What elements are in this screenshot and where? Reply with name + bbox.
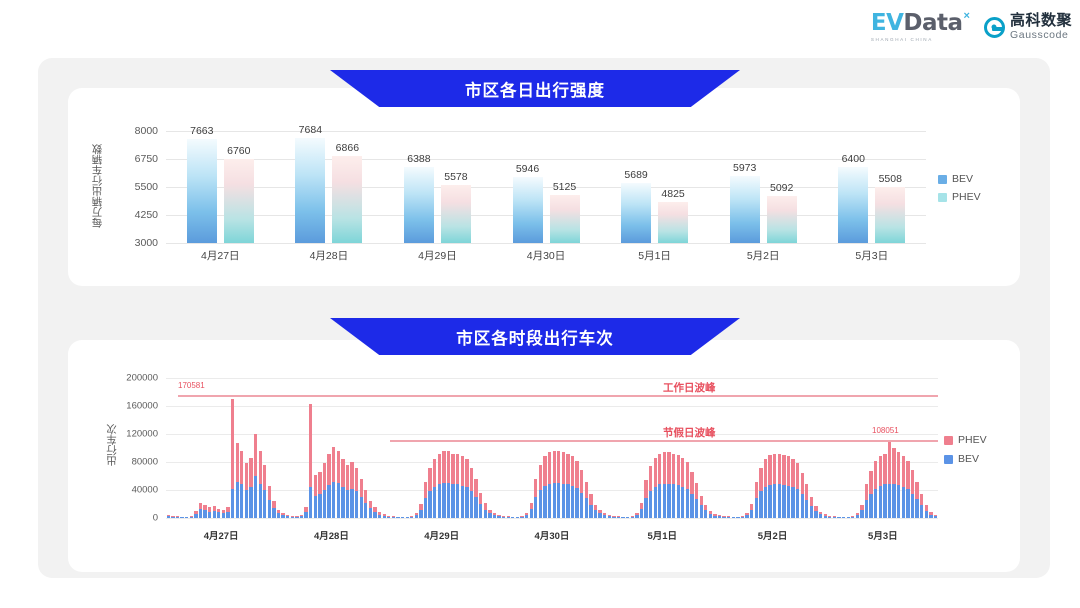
- chart2-bar-bev: [686, 489, 689, 518]
- chart2-stacked-bar[interactable]: [571, 378, 574, 518]
- chart2-bar-phev: [254, 434, 257, 476]
- chart2-stacked-bar[interactable]: [171, 378, 174, 518]
- chart2-x-label: 5月1日: [607, 528, 717, 542]
- chart2-stacked-bar[interactable]: [268, 378, 271, 518]
- chart2-stacked-bar[interactable]: [383, 378, 386, 518]
- chart2-stacked-bar[interactable]: [700, 378, 703, 518]
- chart2-stacked-bar[interactable]: [488, 378, 491, 518]
- chart2-stacked-bar[interactable]: [856, 378, 859, 518]
- legend-item-phev[interactable]: PHEV: [938, 191, 981, 203]
- chart2-stacked-bar[interactable]: [424, 378, 427, 518]
- chart2-stacked-bar[interactable]: [566, 378, 569, 518]
- chart1-bar-phev[interactable]: 5578: [441, 185, 471, 243]
- chart2-stacked-bar[interactable]: [461, 378, 464, 518]
- chart2-stacked-bar[interactable]: [355, 378, 358, 518]
- chart2-bar-bev: [906, 489, 909, 518]
- chart2-stacked-bar[interactable]: [167, 378, 170, 518]
- chart1-bar-group: 59735092: [709, 131, 818, 243]
- chart2-stacked-bar[interactable]: [318, 378, 321, 518]
- chart2-stacked-bar[interactable]: [654, 378, 657, 518]
- chart2-stacked-bar[interactable]: [401, 378, 404, 518]
- chart1-bar-phev[interactable]: 5092: [767, 196, 797, 243]
- chart1-bar-bev[interactable]: 5973: [730, 176, 760, 243]
- chart2-stacked-bar[interactable]: [534, 378, 537, 518]
- chart2-stacked-bar[interactable]: [176, 378, 179, 518]
- chart2-stacked-bar[interactable]: [410, 378, 413, 518]
- chart2-stacked-bar[interactable]: [199, 378, 202, 518]
- chart2-stacked-bar[interactable]: [608, 378, 611, 518]
- chart1-x-label: 4月28日: [275, 248, 384, 263]
- chart2-stacked-bar[interactable]: [824, 378, 827, 518]
- chart2-stacked-bar[interactable]: [874, 378, 877, 518]
- chart2-bar-bev: [727, 517, 730, 518]
- chart2-stacked-bar[interactable]: [497, 378, 500, 518]
- chart1-bar-bev[interactable]: 5689: [621, 183, 651, 243]
- chart2-stacked-bar[interactable]: [764, 378, 767, 518]
- chart2-bar-phev: [654, 458, 657, 487]
- chart2-stacked-bar[interactable]: [897, 378, 900, 518]
- chart2-stacked-bar[interactable]: [562, 378, 565, 518]
- chart1-bar-bev[interactable]: 7663: [187, 139, 217, 243]
- chart2-bar-phev: [805, 484, 808, 499]
- chart1-bar-bev[interactable]: 6400: [838, 167, 868, 243]
- chart2-bar-bev: [865, 500, 868, 518]
- chart2-stacked-bar[interactable]: [892, 378, 895, 518]
- chart2-bar-bev: [286, 516, 289, 518]
- chart2-x-label: 4月27日: [166, 528, 276, 542]
- chart2-stacked-bar[interactable]: [213, 378, 216, 518]
- chart2-stacked-bar[interactable]: [180, 378, 183, 518]
- chart2-stacked-bar[interactable]: [718, 378, 721, 518]
- chart2-bar-bev: [433, 487, 436, 518]
- chart2-bar-bev: [300, 516, 303, 518]
- chart2-bar-bev: [295, 517, 298, 518]
- chart2-stacked-bar[interactable]: [249, 378, 252, 518]
- chart2-stacked-bar[interactable]: [741, 378, 744, 518]
- legend-item-bev-2[interactable]: BEV: [944, 453, 987, 465]
- chart2-stacked-bar[interactable]: [493, 378, 496, 518]
- chart2-stacked-bar[interactable]: [350, 378, 353, 518]
- chart2-bar-bev: [447, 483, 450, 518]
- chart2-stacked-bar[interactable]: [709, 378, 712, 518]
- chart2-stacked-bar[interactable]: [722, 378, 725, 518]
- peak-value-left: 170581: [178, 381, 205, 390]
- chart2-stacked-bar[interactable]: [286, 378, 289, 518]
- chart2-stacked-bar[interactable]: [277, 378, 280, 518]
- chart2-stacked-bar[interactable]: [902, 378, 905, 518]
- chart2-stacked-bar[interactable]: [557, 378, 560, 518]
- chart2-stacked-bar[interactable]: [695, 378, 698, 518]
- chart2-stacked-bar[interactable]: [263, 378, 266, 518]
- chart2-bar-phev: [548, 452, 551, 484]
- chart2-stacked-bar[interactable]: [883, 378, 886, 518]
- chart2-stacked-bar[interactable]: [759, 378, 762, 518]
- evdata-tagline: SHANGHAI CHINA: [871, 37, 933, 42]
- chart2-bar-bev: [493, 515, 496, 518]
- chart2-stacked-bar[interactable]: [814, 378, 817, 518]
- chart2-bar-bev: [654, 487, 657, 519]
- chart2-stacked-bar[interactable]: [341, 378, 344, 518]
- chart2-stacked-bar[interactable]: [194, 378, 197, 518]
- chart2-bar-bev: [507, 517, 510, 518]
- chart2-bar-bev: [304, 512, 307, 518]
- chart2-bar-bev: [442, 483, 445, 518]
- chart2-stacked-bar[interactable]: [507, 378, 510, 518]
- chart2-bar-phev: [571, 456, 574, 485]
- chart2-bar-phev: [778, 454, 781, 485]
- chart2-stacked-bar[interactable]: [833, 378, 836, 518]
- chart2-bar-phev: [323, 463, 326, 490]
- chart2-stacked-bar[interactable]: [300, 378, 303, 518]
- chart2-stacked-bar[interactable]: [442, 378, 445, 518]
- chart2-stacked-bar[interactable]: [465, 378, 468, 518]
- chart2-bar-phev: [658, 454, 661, 485]
- chart2-bar-phev: [865, 484, 868, 500]
- chart2-stacked-bar[interactable]: [530, 378, 533, 518]
- chart2-bar-phev: [759, 468, 762, 492]
- chart2-stacked-bar[interactable]: [732, 378, 735, 518]
- chart2-stacked-bar[interactable]: [543, 378, 546, 518]
- chart2-stacked-bar[interactable]: [295, 378, 298, 518]
- chart2-stacked-bar[interactable]: [603, 378, 606, 518]
- chart2-stacked-bar[interactable]: [575, 378, 578, 518]
- chart2-legend: PHEV BEV: [944, 434, 987, 465]
- chart1-bar-value: 6760: [227, 145, 250, 157]
- chart2-stacked-bar[interactable]: [245, 378, 248, 518]
- chart2-stacked-bar[interactable]: [231, 378, 234, 518]
- chart2-bar-phev: [700, 496, 703, 506]
- chart1-x-axis-labels: 4月27日4月28日4月29日4月30日5月1日5月2日5月3日: [166, 248, 926, 263]
- chart2-bar-bev: [745, 515, 748, 518]
- chart2-stacked-bar[interactable]: [750, 378, 753, 518]
- chart2-stacked-bar[interactable]: [548, 378, 551, 518]
- chart2-bar-bev: [392, 517, 395, 518]
- chart2-stacked-bar[interactable]: [745, 378, 748, 518]
- chart2-stacked-bar[interactable]: [801, 378, 804, 518]
- chart2-bar-phev: [677, 455, 680, 485]
- chart2-stacked-bar[interactable]: [323, 378, 326, 518]
- chart2-y-tick: 200000: [126, 373, 158, 384]
- chart2-stacked-bar[interactable]: [208, 378, 211, 518]
- chart2-bar-phev: [355, 468, 358, 492]
- chart2-stacked-bar[interactable]: [259, 378, 262, 518]
- chart2-stacked-bar[interactable]: [934, 378, 937, 518]
- chart2-bar-bev: [575, 488, 578, 518]
- chart2-bar-phev: [318, 472, 321, 494]
- chart2-bar-bev: [709, 514, 712, 518]
- chart2-bar-bev: [406, 517, 409, 518]
- chart1-x-label: 4月30日: [492, 248, 601, 263]
- chart2-bar-phev: [364, 490, 367, 503]
- chart2-bar-phev: [268, 486, 271, 500]
- chart2-bar-bev: [488, 513, 491, 518]
- chart2-stacked-bar[interactable]: [580, 378, 583, 518]
- chart2-bar-bev: [902, 487, 905, 519]
- chart2-stacked-bar[interactable]: [791, 378, 794, 518]
- chart2-bar-bev: [451, 484, 454, 518]
- chart2-bar-bev: [929, 515, 932, 519]
- chart2-stacked-bar[interactable]: [511, 378, 514, 518]
- chart2-stacked-bar[interactable]: [484, 378, 487, 518]
- chart1-bar-phev[interactable]: 6866: [332, 156, 362, 243]
- chart2-bar-phev: [259, 451, 262, 485]
- chart2-stacked-bar[interactable]: [925, 378, 928, 518]
- chart2-stacked-bar[interactable]: [713, 378, 716, 518]
- chart2-stacked-bar[interactable]: [828, 378, 831, 518]
- chart1-bar-value: 5092: [770, 182, 793, 194]
- chart2-stacked-bar[interactable]: [879, 378, 882, 518]
- chart2-bar-bev: [805, 500, 808, 518]
- chart2-stacked-bar[interactable]: [387, 378, 390, 518]
- chart2-stacked-bar[interactable]: [649, 378, 652, 518]
- chart2-stacked-bar[interactable]: [626, 378, 629, 518]
- chart2-stacked-bar[interactable]: [332, 378, 335, 518]
- chart2-stacked-bar[interactable]: [520, 378, 523, 518]
- chart2-stacked-bar[interactable]: [309, 378, 312, 518]
- chart2-bar-phev: [773, 454, 776, 485]
- chart2-bar-bev: [810, 506, 813, 518]
- chart2-stacked-bar[interactable]: [778, 378, 781, 518]
- chart2-bar-bev: [759, 491, 762, 518]
- chart2-stacked-bar[interactable]: [681, 378, 684, 518]
- chart2-x-label: 5月3日: [828, 528, 938, 542]
- chart2-stacked-bar[interactable]: [360, 378, 363, 518]
- chart2-bar-phev: [433, 459, 436, 487]
- chart2-bar-bev: [631, 517, 634, 518]
- chart2-stacked-bar[interactable]: [392, 378, 395, 518]
- chart2-stacked-bar[interactable]: [553, 378, 556, 518]
- chart2-stacked-bar[interactable]: [185, 378, 188, 518]
- chart2-bar-bev: [594, 510, 597, 518]
- chart2-stacked-bar[interactable]: [805, 378, 808, 518]
- chart2-stacked-bar[interactable]: [635, 378, 638, 518]
- chart2-bar-bev: [828, 517, 831, 518]
- chart2-bar-phev: [424, 482, 427, 499]
- chart1-bar-value: 7684: [299, 124, 322, 136]
- chart1-bar-value: 7663: [190, 125, 213, 137]
- chart2-bar-bev: [644, 498, 647, 518]
- chart2-stacked-bar[interactable]: [369, 378, 372, 518]
- chart2-stacked-bar[interactable]: [782, 378, 785, 518]
- chart2-stacked-bar[interactable]: [851, 378, 854, 518]
- chart2-bar-bev: [791, 487, 794, 518]
- chart2-bar-bev: [217, 512, 220, 518]
- chart2-bar-bev: [837, 517, 840, 518]
- chart2-y-tick: 40000: [132, 485, 158, 496]
- chart2-bar-phev: [240, 451, 243, 485]
- chart2-stacked-bar[interactable]: [217, 378, 220, 518]
- chart1-bar-phev[interactable]: 5508: [875, 187, 905, 243]
- chart2-bar-phev: [428, 468, 431, 492]
- banner-daily-intensity: 市区各日出行强度: [330, 70, 740, 107]
- chart2-x-label: 4月29日: [387, 528, 497, 542]
- chart2-bar-phev: [332, 447, 335, 482]
- chart2-stacked-bar[interactable]: [690, 378, 693, 518]
- chart2-stacked-bar[interactable]: [516, 378, 519, 518]
- chart2-stacked-bar[interactable]: [240, 378, 243, 518]
- chart2-stacked-bar[interactable]: [888, 378, 891, 518]
- chart2-plot-area: 20000016000012000080000400000: [166, 378, 938, 518]
- chart2-stacked-bar[interactable]: [415, 378, 418, 518]
- chart2-stacked-bar[interactable]: [525, 378, 528, 518]
- chart1-bar-bev[interactable]: 5946: [513, 177, 543, 243]
- chart2-bar-bev: [249, 487, 252, 518]
- chart2-stacked-bar[interactable]: [906, 378, 909, 518]
- legend-swatch-bev: [938, 175, 947, 184]
- chart1-bar-value: 5689: [624, 169, 647, 181]
- chart2-stacked-bar[interactable]: [631, 378, 634, 518]
- chart2-stacked-bar[interactable]: [644, 378, 647, 518]
- chart2-stacked-bar[interactable]: [667, 378, 670, 518]
- chart1-bar-phev[interactable]: 4825: [658, 202, 688, 243]
- chart2-stacked-bar[interactable]: [640, 378, 643, 518]
- chart2-stacked-bar[interactable]: [254, 378, 257, 518]
- chart2-bar-phev: [557, 451, 560, 483]
- chart2-bar-bev: [585, 498, 588, 518]
- chart2-stacked-bar[interactable]: [272, 378, 275, 518]
- chart2-stacked-bar[interactable]: [539, 378, 542, 518]
- chart2-stacked-bar[interactable]: [773, 378, 776, 518]
- chart2-stacked-bar[interactable]: [704, 378, 707, 518]
- chart2-stacked-bar[interactable]: [203, 378, 206, 518]
- chart2-stacked-bar[interactable]: [419, 378, 422, 518]
- chart2-stacked-bar[interactable]: [373, 378, 376, 518]
- chart1-bar-phev[interactable]: 6760: [224, 159, 254, 243]
- chart2-bar-bev: [915, 499, 918, 518]
- chart2-stacked-bar[interactable]: [314, 378, 317, 518]
- chart2-stacked-bar[interactable]: [327, 378, 330, 518]
- annotation-holiday-peak: 节假日波峰: [663, 425, 716, 440]
- chart2-stacked-bar[interactable]: [190, 378, 193, 518]
- chart2-bar-bev: [530, 509, 533, 518]
- chart1-x-label: 4月27日: [166, 248, 275, 263]
- chart2-stacked-bar[interactable]: [470, 378, 473, 518]
- chart2-stacked-bar[interactable]: [617, 378, 620, 518]
- chart2-stacked-bar[interactable]: [222, 378, 225, 518]
- chart2-stacked-bar[interactable]: [612, 378, 615, 518]
- chart1-bar-bev[interactable]: 6388: [404, 167, 434, 243]
- chart2-bar-bev: [732, 517, 735, 518]
- chart2-stacked-bar[interactable]: [438, 378, 441, 518]
- chart2-stacked-bar[interactable]: [686, 378, 689, 518]
- chart2-bar-bev: [185, 517, 188, 518]
- chart2-stacked-bar[interactable]: [736, 378, 739, 518]
- chart2-bar-phev: [796, 463, 799, 489]
- chart2-bar-bev: [883, 484, 886, 518]
- chart2-stacked-bar[interactable]: [672, 378, 675, 518]
- chart2-stacked-bar[interactable]: [847, 378, 850, 518]
- chart2-stacked-bar[interactable]: [406, 378, 409, 518]
- chart2-bar-phev: [451, 454, 454, 485]
- chart2-stacked-bar[interactable]: [479, 378, 482, 518]
- chart2-stacked-bar[interactable]: [456, 378, 459, 518]
- chart2-bar-bev: [897, 485, 900, 518]
- chart2-stacked-bar[interactable]: [598, 378, 601, 518]
- chart2-stacked-bar[interactable]: [474, 378, 477, 518]
- chart2-stacked-bar[interactable]: [842, 378, 845, 518]
- chart2-stacked-bar[interactable]: [291, 378, 294, 518]
- chart2-stacked-bar[interactable]: [787, 378, 790, 518]
- chart2-stacked-bar[interactable]: [755, 378, 758, 518]
- gausscode-mark-icon: [984, 17, 1005, 38]
- chart2-stacked-bar[interactable]: [727, 378, 730, 518]
- chart2-stacked-bar[interactable]: [451, 378, 454, 518]
- chart2-bar-phev: [791, 459, 794, 487]
- chart2-stacked-bar[interactable]: [337, 378, 340, 518]
- chart2-stacked-bar[interactable]: [589, 378, 592, 518]
- chart2-stacked-bar[interactable]: [364, 378, 367, 518]
- chart2-y-tick: 120000: [126, 429, 158, 440]
- chart2-stacked-bar[interactable]: [663, 378, 666, 518]
- chart1-bar-value: 5973: [733, 162, 756, 174]
- chart2-bar-bev: [580, 493, 583, 518]
- chart2-bar-bev: [782, 485, 785, 518]
- chart2-stacked-bar[interactable]: [810, 378, 813, 518]
- chart2-bar-bev: [355, 491, 358, 518]
- chart2-stacked-bar[interactable]: [860, 378, 863, 518]
- chart2-bar-phev: [369, 501, 372, 509]
- chart2-stacked-bar[interactable]: [869, 378, 872, 518]
- chart2-stacked-bar[interactable]: [768, 378, 771, 518]
- chart2-bar-bev: [520, 517, 523, 518]
- chart2-bar-phev: [869, 471, 872, 493]
- evdata-logo: EV Data × SHANGHAI CHINA: [871, 12, 970, 42]
- chart2-stacked-bar[interactable]: [677, 378, 680, 518]
- chart1-bar-phev[interactable]: 5125: [550, 195, 580, 243]
- legend-item-bev[interactable]: BEV: [938, 173, 981, 185]
- chart2-stacked-bar[interactable]: [837, 378, 840, 518]
- chart2-bar-bev: [750, 510, 753, 518]
- chart2-stacked-bar[interactable]: [865, 378, 868, 518]
- chart2-stacked-bar[interactable]: [281, 378, 284, 518]
- chart2-bar-bev: [672, 484, 675, 518]
- chart2-stacked-bar[interactable]: [433, 378, 436, 518]
- chart2-bar-bev: [713, 516, 716, 518]
- chart2-stacked-bar[interactable]: [346, 378, 349, 518]
- chart2-bar-bev: [332, 482, 335, 518]
- chart2-bar-phev: [539, 465, 542, 490]
- chart2-stacked-bar[interactable]: [304, 378, 307, 518]
- chart2-stacked-bar[interactable]: [428, 378, 431, 518]
- chart2-stacked-bar[interactable]: [396, 378, 399, 518]
- chart2-stacked-bar[interactable]: [585, 378, 588, 518]
- chart2-stacked-bar[interactable]: [226, 378, 229, 518]
- chart2-stacked-bar[interactable]: [658, 378, 661, 518]
- chart2-stacked-bar[interactable]: [915, 378, 918, 518]
- chart2-stacked-bar[interactable]: [502, 378, 505, 518]
- chart2-stacked-bar[interactable]: [621, 378, 624, 518]
- chart2-y-axis-label: 出行车次: [104, 424, 119, 466]
- chart1-bar-bev[interactable]: 7684: [295, 138, 325, 243]
- evdata-word-ev: EV: [871, 12, 904, 35]
- chart2-stacked-bar[interactable]: [796, 378, 799, 518]
- chart2-stacked-bar[interactable]: [236, 378, 239, 518]
- chart1-y-tick: 5500: [135, 181, 158, 193]
- chart2-y-tick: 80000: [132, 457, 158, 468]
- chart2-stacked-bar[interactable]: [594, 378, 597, 518]
- chart2-stacked-bar[interactable]: [929, 378, 932, 518]
- chart2-stacked-bar[interactable]: [447, 378, 450, 518]
- chart2-stacked-bar[interactable]: [378, 378, 381, 518]
- legend-label-phev-2: PHEV: [958, 434, 987, 446]
- annotation-weekday-peak: 工作日波峰: [663, 380, 716, 395]
- chart2-stacked-bar[interactable]: [920, 378, 923, 518]
- chart2-bar-bev: [589, 505, 592, 518]
- chart2-stacked-bar[interactable]: [911, 378, 914, 518]
- legend-item-phev-2[interactable]: PHEV: [944, 434, 987, 446]
- chart2-stacked-bar[interactable]: [819, 378, 822, 518]
- chart2-bar-phev: [309, 404, 312, 487]
